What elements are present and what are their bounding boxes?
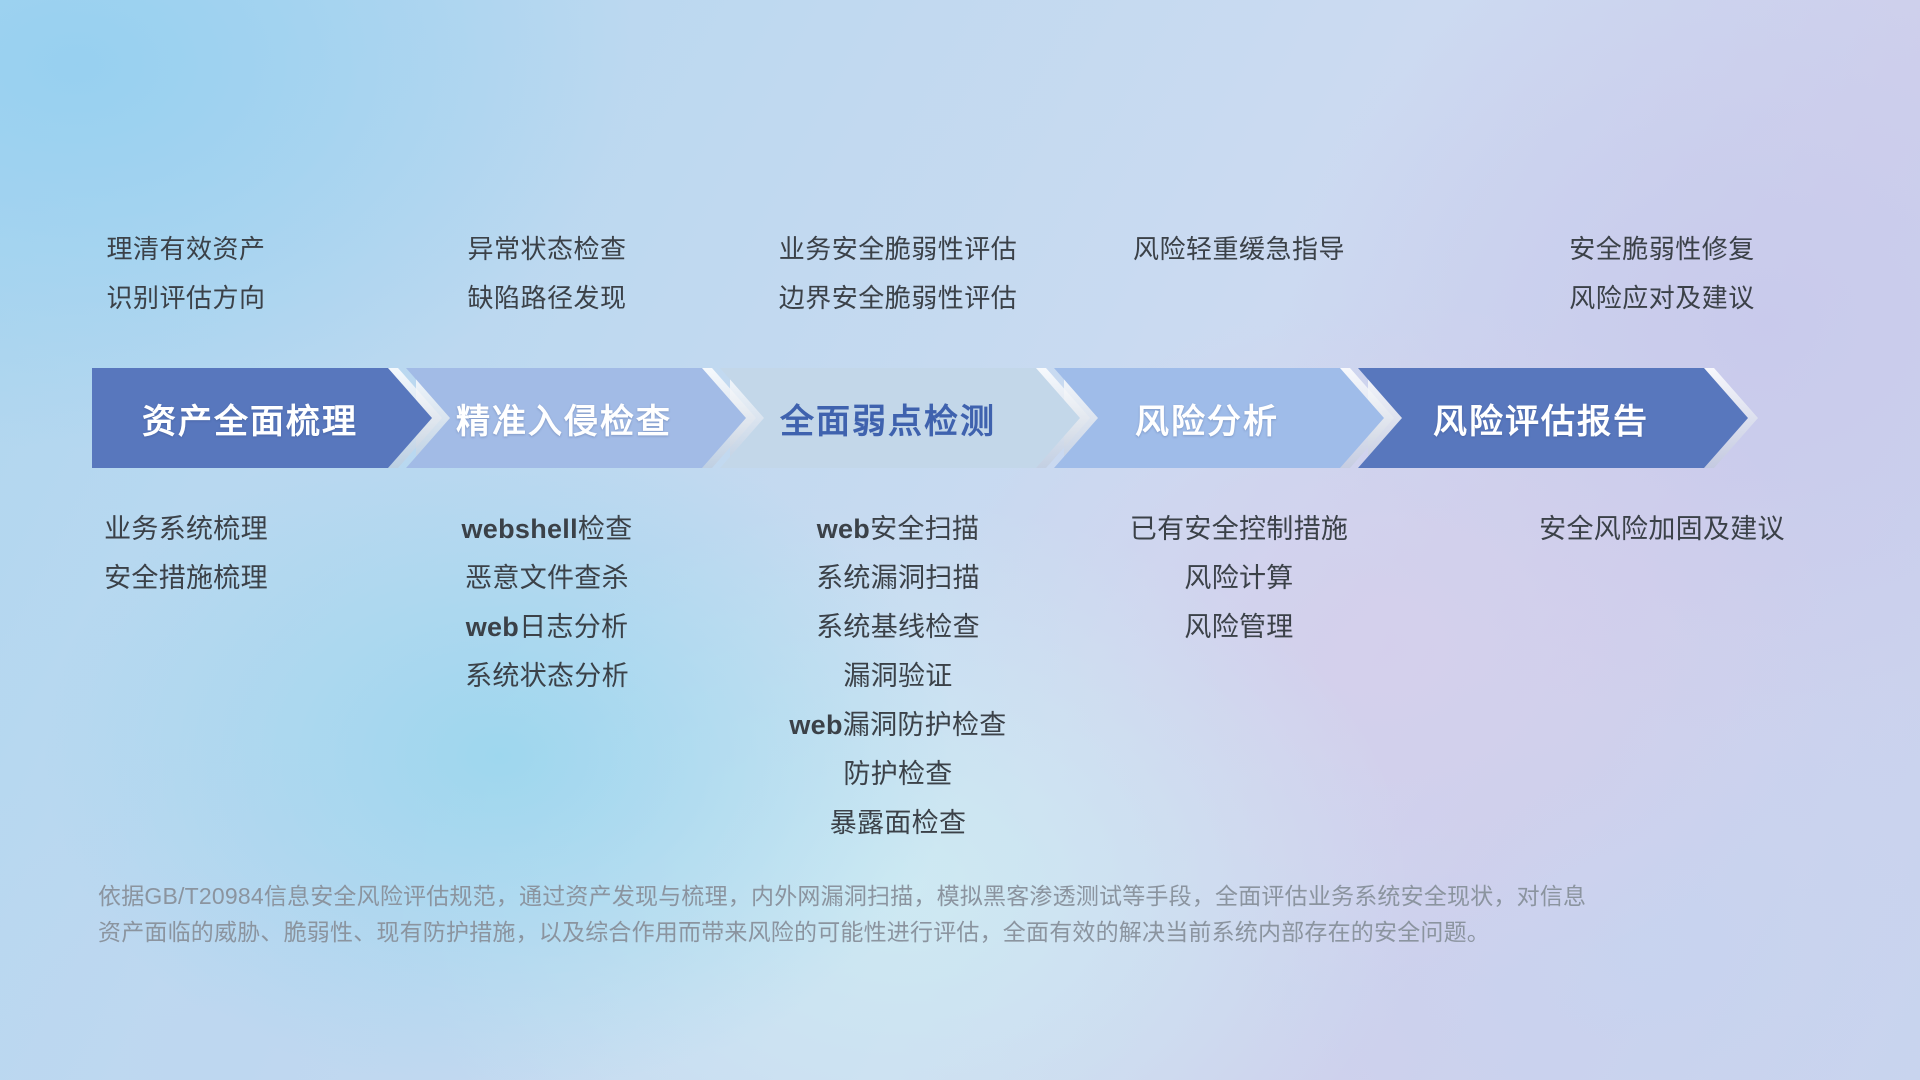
detail-item-latin: web [466, 612, 519, 642]
detail-item: 防护检查 [843, 750, 952, 799]
top-note-column-risk-analysis: 风险轻重缓急指导 [1074, 225, 1404, 345]
detail-item: web日志分析 [466, 603, 629, 652]
detail-column-risk-report: 安全风险加固及建议 [1404, 505, 1920, 848]
top-notes-row: 理清有效资产识别评估方向异常状态检查缺陷路径发现业务安全脆弱性评估边界安全脆弱性… [0, 225, 1920, 345]
chevron-stage-risk-analysis[interactable]: 风险分析 [1054, 368, 1384, 468]
chevron-stage-intrusion-check[interactable]: 精准入侵检查 [406, 368, 746, 468]
detail-column-intrusion-check: webshell检查恶意文件查杀web日志分析系统状态分析 [372, 505, 722, 848]
detail-item: 安全措施梳理 [104, 554, 268, 603]
detail-item: 漏洞验证 [843, 652, 952, 701]
chevron-label: 精准入侵检查 [456, 394, 672, 443]
chevron-stage-weakness-detection[interactable]: 全面弱点检测 [720, 368, 1080, 468]
top-note-column-risk-report: 安全脆弱性修复风险应对及建议 [1404, 225, 1920, 345]
top-note-column-weakness-detection: 业务安全脆弱性评估边界安全脆弱性评估 [722, 225, 1074, 345]
top-note-line: 业务安全脆弱性评估 [779, 225, 1018, 274]
chevron-label: 风险分析 [1135, 394, 1279, 443]
top-note-line: 安全脆弱性修复 [1569, 225, 1755, 274]
top-note-line: 异常状态检查 [467, 225, 626, 274]
top-note-line: 边界安全脆弱性评估 [779, 274, 1018, 323]
detail-item: 系统状态分析 [465, 652, 629, 701]
detail-item: web安全扫描 [817, 505, 980, 554]
top-note-line: 理清有效资产 [106, 225, 265, 274]
detail-item: 暴露面检查 [830, 799, 967, 848]
footer-description: 依据GB/T20984信息安全风险评估规范，通过资产发现与梳理，内外网漏洞扫描，… [98, 878, 1818, 950]
detail-item: 系统基线检查 [816, 603, 980, 652]
detail-item: 安全风险加固及建议 [1539, 505, 1785, 554]
top-note-line: 缺陷路径发现 [467, 274, 626, 323]
chevron-label: 资产全面梳理 [142, 394, 358, 443]
process-flow-chevrons: 资产全面梳理精准入侵检查全面弱点检测风险分析风险评估报告 [92, 368, 1852, 468]
detail-column-risk-analysis: 已有安全控制措施风险计算风险管理 [1074, 505, 1404, 848]
detail-column-asset-inventory: 业务系统梳理安全措施梳理 [0, 505, 372, 848]
chevron-label: 风险评估报告 [1433, 394, 1649, 443]
top-note-column-asset-inventory: 理清有效资产识别评估方向 [0, 225, 372, 345]
detail-item-latin: webshell [461, 514, 577, 544]
footer-line-1: 依据GB/T20984信息安全风险评估规范，通过资产发现与梳理，内外网漏洞扫描，… [98, 878, 1818, 914]
detail-item: web漏洞防护检查 [789, 701, 1006, 750]
top-note-column-intrusion-check: 异常状态检查缺陷路径发现 [372, 225, 722, 345]
detail-item: webshell检查 [461, 505, 632, 554]
top-note-line: 识别评估方向 [106, 274, 265, 323]
chevron-stage-risk-report[interactable]: 风险评估报告 [1358, 368, 1748, 468]
top-note-line: 风险应对及建议 [1569, 274, 1755, 323]
detail-item: 已有安全控制措施 [1130, 505, 1348, 554]
chevron-stage-asset-inventory[interactable]: 资产全面梳理 [92, 368, 432, 468]
detail-item: 风险管理 [1184, 603, 1293, 652]
chevron-label: 全面弱点检测 [780, 394, 996, 443]
detail-item-latin: web [789, 710, 842, 740]
detail-item: 业务系统梳理 [104, 505, 268, 554]
slide-canvas: 理清有效资产识别评估方向异常状态检查缺陷路径发现业务安全脆弱性评估边界安全脆弱性… [0, 0, 1920, 1080]
detail-item: 系统漏洞扫描 [816, 554, 980, 603]
detail-item: 恶意文件查杀 [465, 554, 629, 603]
detail-item: 风险计算 [1184, 554, 1293, 603]
footer-line-2: 资产面临的威胁、脆弱性、现有防护措施，以及综合作用而带来风险的可能性进行评估，全… [98, 914, 1818, 950]
top-note-line: 风险轻重缓急指导 [1133, 225, 1345, 274]
detail-columns-row: 业务系统梳理安全措施梳理webshell检查恶意文件查杀web日志分析系统状态分… [0, 505, 1920, 848]
detail-column-weakness-detection: web安全扫描系统漏洞扫描系统基线检查漏洞验证web漏洞防护检查防护检查暴露面检… [722, 505, 1074, 848]
detail-item-latin: web [817, 514, 870, 544]
